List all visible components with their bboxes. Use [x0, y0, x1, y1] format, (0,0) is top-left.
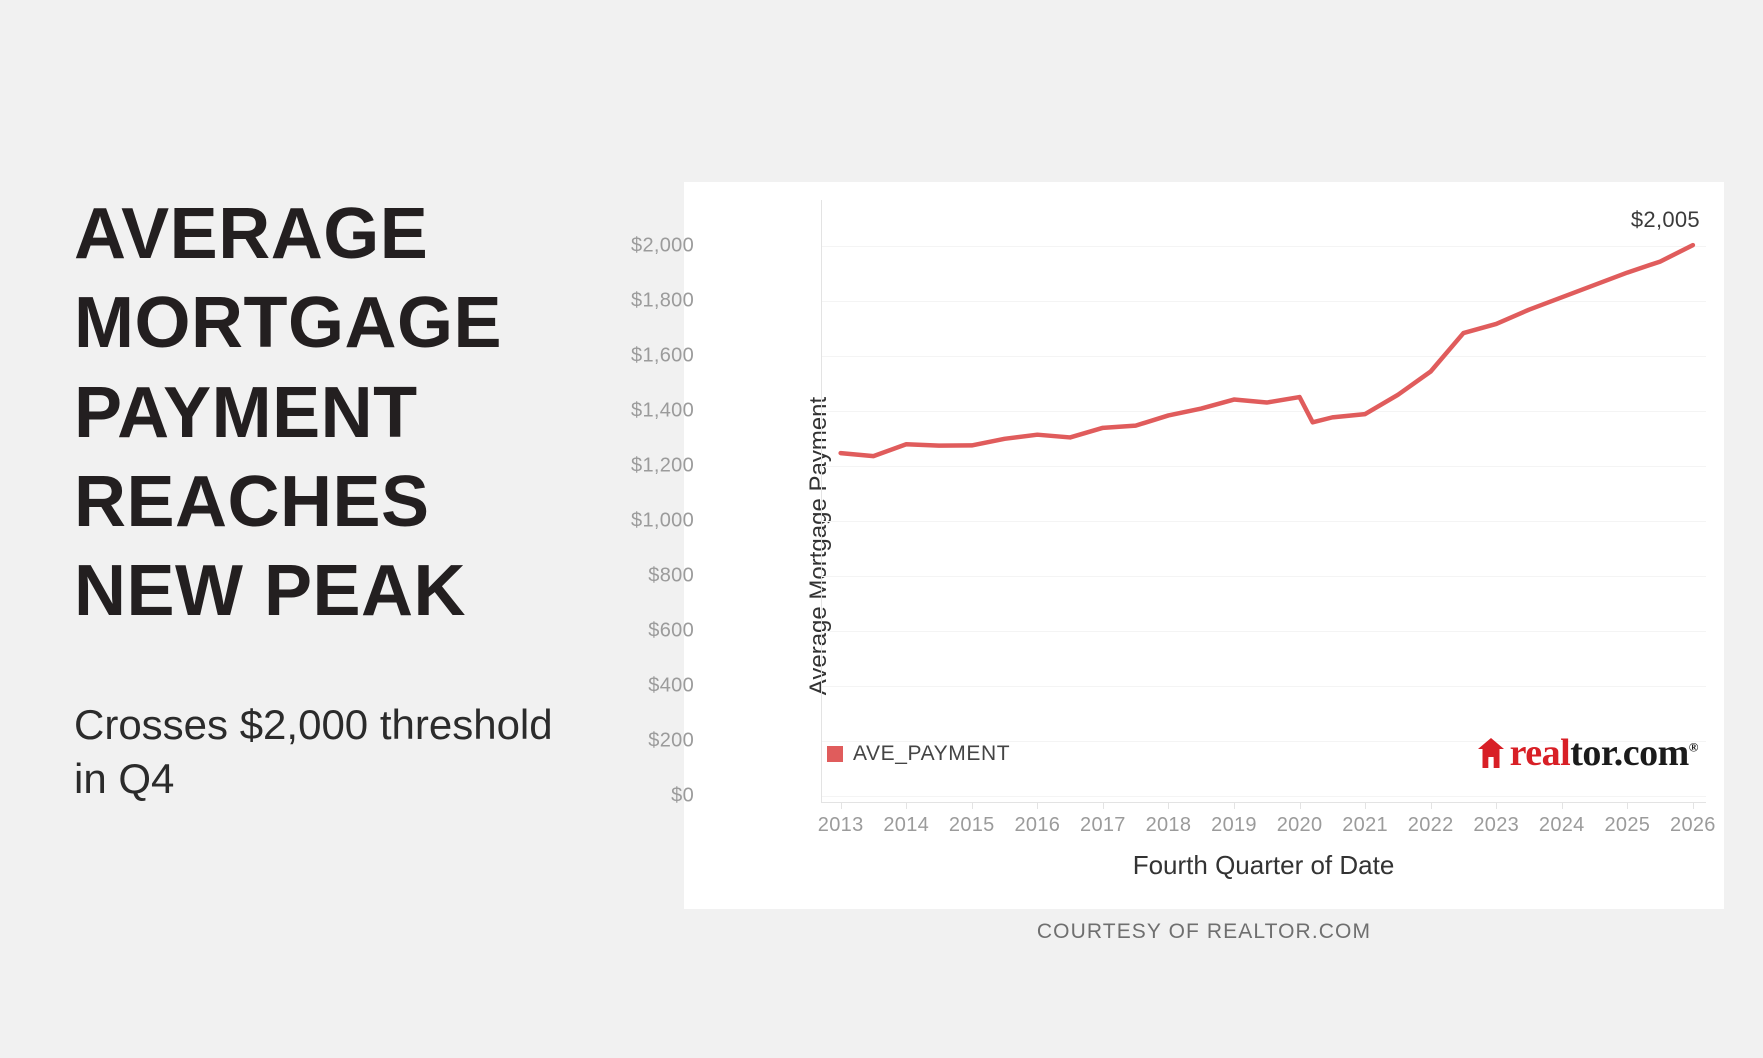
series-line-ave-payment [684, 182, 1724, 909]
legend-swatch-icon [827, 746, 843, 762]
plot-area: Average Mortgage Payment $0$200$400$600$… [684, 182, 1724, 909]
chart-card: Average Mortgage Payment $0$200$400$600$… [684, 182, 1724, 909]
chart-legend[interactable]: AVE_PAYMENT [827, 742, 1010, 766]
logo-word-red: real [1510, 732, 1571, 774]
realtor-logo: realtor.com® [1478, 734, 1698, 772]
logo-wordmark: realtor.com® [1510, 734, 1698, 772]
headline-block: AVERAGE MORTGAGE PAYMENT REACHES NEW PEA… [74, 190, 594, 806]
page-title: AVERAGE MORTGAGE PAYMENT REACHES NEW PEA… [74, 190, 594, 636]
legend-label: AVE_PAYMENT [853, 742, 1010, 766]
house-icon [1478, 738, 1504, 768]
x-axis-title: Fourth Quarter of Date [821, 850, 1706, 881]
footer-credit: COURTESY OF REALTOR.COM [684, 920, 1724, 944]
page-subtitle: Crosses $2,000 threshold in Q4 [74, 698, 594, 806]
logo-word-black: tor.com [1570, 732, 1689, 774]
peak-value-annotation: $2,005 [1631, 207, 1700, 233]
logo-trademark: ® [1689, 739, 1698, 754]
